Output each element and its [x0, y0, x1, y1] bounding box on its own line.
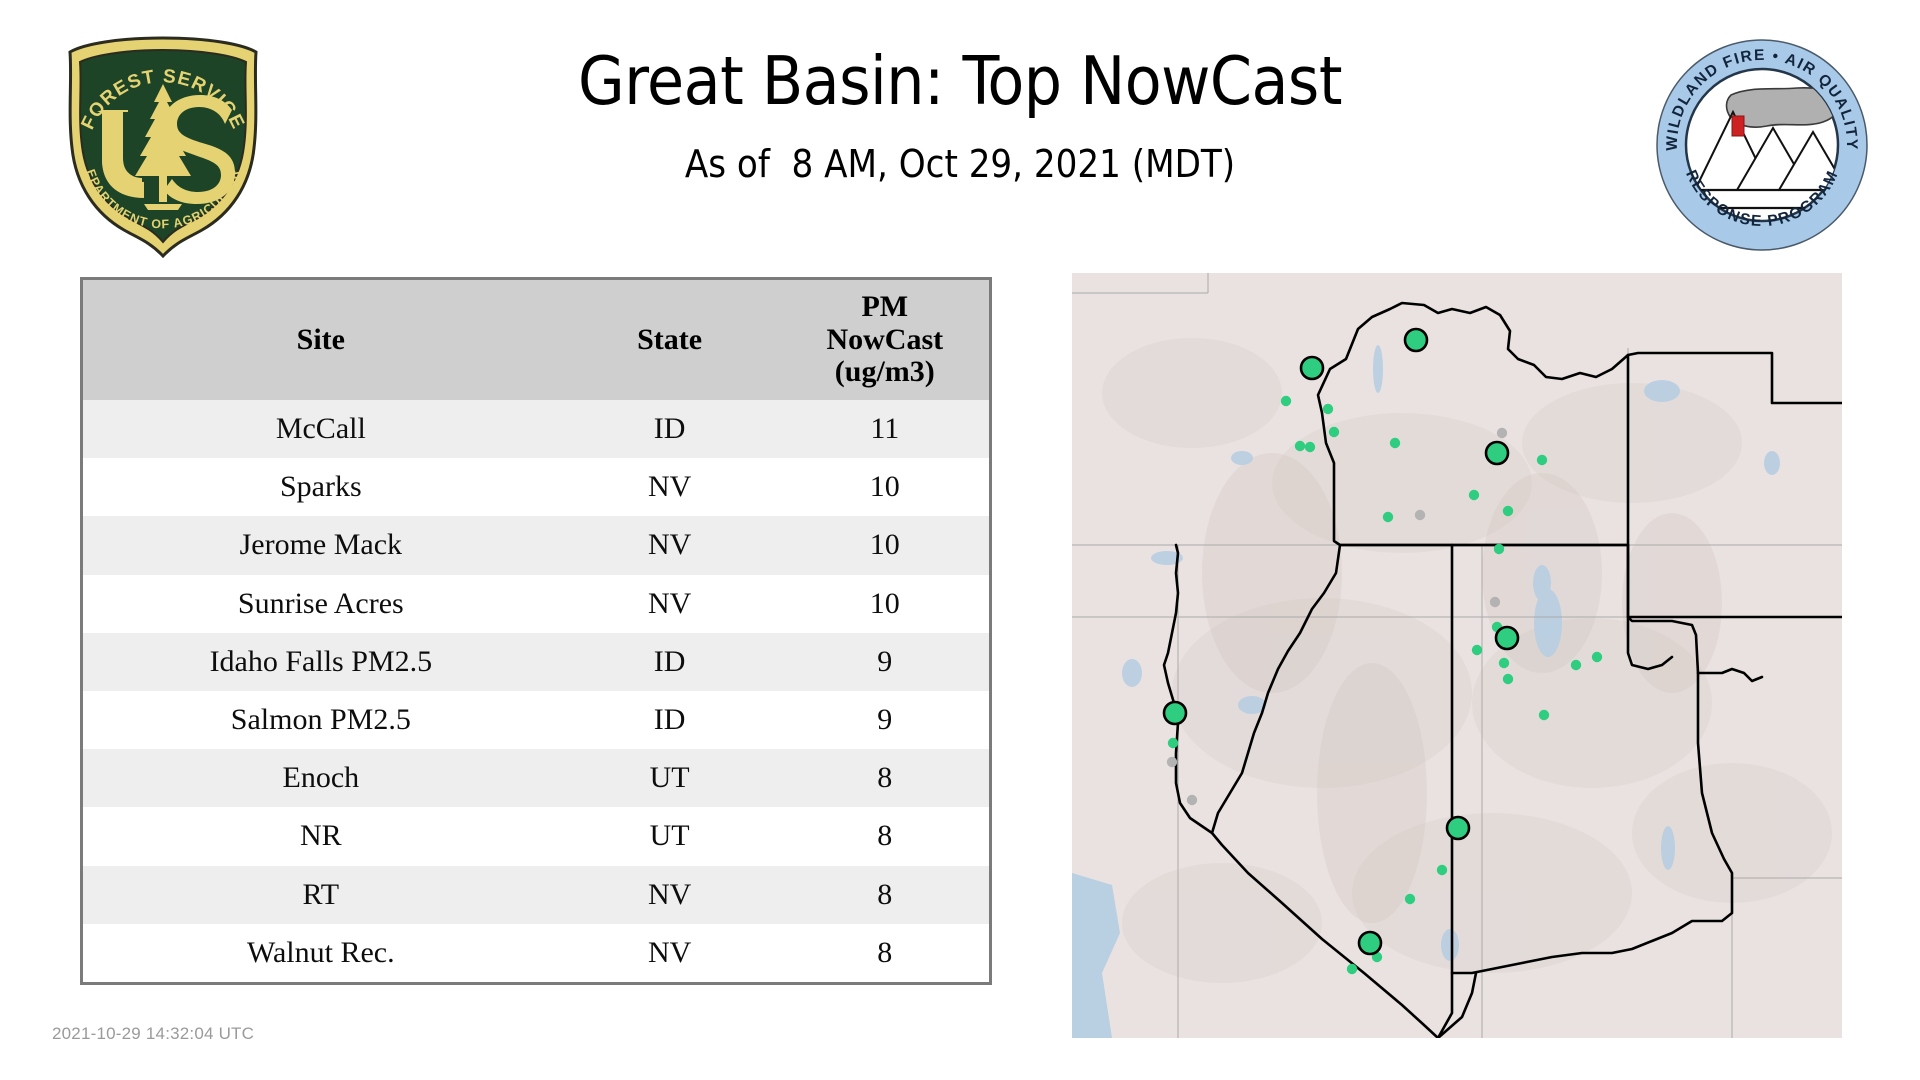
top-nowcast-table-panel: Site State PM NowCast (ug/m3) McCall ID …: [80, 277, 992, 985]
top-site-marker[interactable]: [1164, 702, 1186, 724]
monitor-dot[interactable]: [1295, 441, 1305, 451]
cell-pm: 10: [781, 575, 989, 633]
monitor-dot[interactable]: [1537, 455, 1547, 465]
top-nowcast-table: Site State PM NowCast (ug/m3) McCall ID …: [83, 280, 989, 982]
table-row[interactable]: Walnut Rec. NV 8: [83, 924, 989, 982]
table-row[interactable]: Enoch UT 8: [83, 749, 989, 807]
table-row[interactable]: Idaho Falls PM2.5 ID 9: [83, 633, 989, 691]
top-site-marker[interactable]: [1496, 627, 1518, 649]
page-header: FOREST SERVICE DEPARTMENT OF AGRICULTURE…: [0, 0, 1920, 262]
cell-state: NV: [559, 924, 781, 982]
monitor-dot[interactable]: [1469, 490, 1479, 500]
table-row[interactable]: Sparks NV 10: [83, 458, 989, 516]
table-header-row: Site State PM NowCast (ug/m3): [83, 280, 989, 400]
top-site-marker[interactable]: [1301, 357, 1323, 379]
top-site-marker[interactable]: [1359, 932, 1381, 954]
table-row[interactable]: McCall ID 11: [83, 400, 989, 458]
cell-site: Salmon PM2.5: [83, 691, 559, 749]
cell-state: NV: [559, 866, 781, 924]
page-title: Great Basin: Top NowCast: [300, 46, 1620, 117]
monitor-dot[interactable]: [1187, 795, 1197, 805]
table-row[interactable]: RT NV 8: [83, 866, 989, 924]
monitor-dot[interactable]: [1347, 964, 1357, 974]
column-header-state: State: [559, 280, 781, 400]
great-basin-monitor-map[interactable]: Air Quality Index Hazardous Very Unhealt…: [1072, 273, 1842, 1038]
monitor-dot[interactable]: [1168, 738, 1178, 748]
table-body: McCall ID 11 Sparks NV 10 Jerome Mack NV…: [83, 400, 989, 982]
table-row[interactable]: Jerome Mack NV 10: [83, 516, 989, 574]
cell-pm: 8: [781, 866, 989, 924]
cell-site: Sunrise Acres: [83, 575, 559, 633]
cell-site: Jerome Mack: [83, 516, 559, 574]
table-row[interactable]: Salmon PM2.5 ID 9: [83, 691, 989, 749]
monitor-dot[interactable]: [1571, 660, 1581, 670]
title-block: Great Basin: Top NowCast As of 8 AM, Oct…: [300, 46, 1620, 186]
cell-pm: 8: [781, 749, 989, 807]
cell-site: McCall: [83, 400, 559, 458]
cell-site: Idaho Falls PM2.5: [83, 633, 559, 691]
cell-site: Enoch: [83, 749, 559, 807]
monitor-dot[interactable]: [1472, 645, 1482, 655]
cell-pm: 8: [781, 807, 989, 865]
cell-pm: 9: [781, 633, 989, 691]
cell-state: UT: [559, 749, 781, 807]
cell-state: NV: [559, 516, 781, 574]
top-site-marker[interactable]: [1486, 442, 1508, 464]
monitor-dot[interactable]: [1405, 894, 1415, 904]
monitor-dot[interactable]: [1281, 396, 1291, 406]
cell-state: NV: [559, 458, 781, 516]
cell-state: ID: [559, 400, 781, 458]
cell-state: ID: [559, 691, 781, 749]
cell-pm: 9: [781, 691, 989, 749]
page-subtitle: As of 8 AM, Oct 29, 2021 (MDT): [300, 144, 1620, 186]
column-header-site: Site: [83, 280, 559, 400]
monitor-dot[interactable]: [1415, 510, 1425, 520]
cell-pm: 10: [781, 516, 989, 574]
cell-pm: 10: [781, 458, 989, 516]
monitor-dot[interactable]: [1390, 438, 1400, 448]
column-header-pm-nowcast: PM NowCast (ug/m3): [781, 280, 989, 400]
monitor-dot[interactable]: [1503, 674, 1513, 684]
monitor-dot[interactable]: [1499, 658, 1509, 668]
cell-pm: 11: [781, 400, 989, 458]
monitor-dot[interactable]: [1592, 652, 1602, 662]
cell-site: NR: [83, 807, 559, 865]
top-site-marker[interactable]: [1447, 817, 1469, 839]
cell-state: ID: [559, 633, 781, 691]
cell-state: NV: [559, 575, 781, 633]
table-row[interactable]: NR UT 8: [83, 807, 989, 865]
monitor-dot[interactable]: [1383, 512, 1393, 522]
cell-state: UT: [559, 807, 781, 865]
monitor-dot[interactable]: [1497, 428, 1507, 438]
us-forest-service-logo: FOREST SERVICE DEPARTMENT OF AGRICULTURE: [58, 28, 268, 258]
monitor-dot[interactable]: [1305, 442, 1315, 452]
monitor-dot[interactable]: [1167, 757, 1177, 767]
generation-timestamp: 2021-10-29 14:32:04 UTC: [52, 1024, 254, 1044]
monitor-dot[interactable]: [1323, 404, 1333, 414]
monitor-dot[interactable]: [1329, 427, 1339, 437]
monitor-dot[interactable]: [1503, 506, 1513, 516]
monitor-dot[interactable]: [1437, 865, 1447, 875]
cell-site: RT: [83, 866, 559, 924]
monitor-dot[interactable]: [1494, 544, 1504, 554]
wildland-fire-air-quality-response-program-logo: WILDLAND FIRE • AIR QUALITY RESPONSE PRO…: [1655, 38, 1869, 252]
table-row[interactable]: Sunrise Acres NV 10: [83, 575, 989, 633]
cell-site: Sparks: [83, 458, 559, 516]
monitor-dot[interactable]: [1539, 710, 1549, 720]
cell-site: Walnut Rec.: [83, 924, 559, 982]
monitor-dot[interactable]: [1490, 597, 1500, 607]
cell-pm: 8: [781, 924, 989, 982]
top-site-marker[interactable]: [1405, 329, 1427, 351]
